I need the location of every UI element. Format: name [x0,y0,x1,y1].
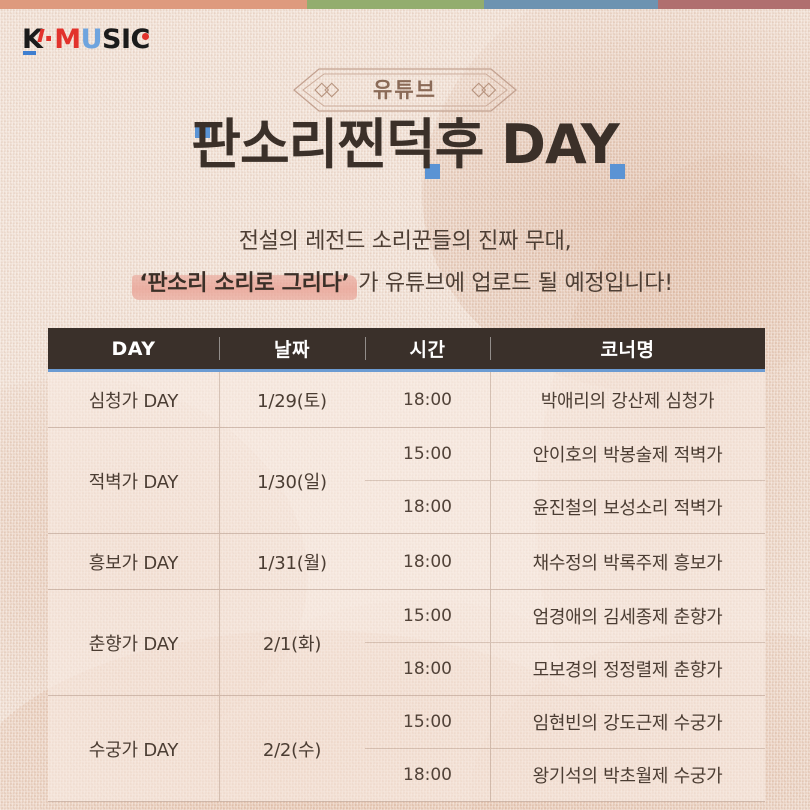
cell-time: 18:00 [365,643,490,695]
cell-day: 적벽가 DAY [48,428,219,533]
table-body: 심청가 DAY1/29(토)18:00박애리의 강산제 심청가적벽가 DAY1/… [48,372,765,802]
time-slot: 15:00안이호의 박봉술제 적벽가 [365,428,765,480]
top-bar-segment-red [658,0,810,9]
table-row: 흥보가 DAY1/31(월)18:00채수정의 박록주제 흥보가 [48,534,765,590]
time-slot: 18:00왕기석의 박초월제 수궁가 [365,748,765,801]
cell-time: 18:00 [365,534,490,589]
subtitle-block: 전설의 레전드 소리꾼들의 진짜 무대, ‘판소리 소리로 그리다’ 가 유튜브… [0,224,810,301]
table-header-time: 시간 [365,328,490,369]
cell-day: 수궁가 DAY [48,696,219,801]
badge-label: 유튜브 [373,80,437,101]
cell-date: 1/30(일) [219,428,365,533]
subtitle-line-2-rest: 가 유튜브에 업로드 될 예정입니다! [352,271,673,296]
table-row: 수궁가 DAY2/2(수)15:00임현빈의 강도근제 수궁가18:00왕기석의… [48,696,765,802]
logo-dot-icon: · [42,26,54,53]
youtube-badge: 유튜브 [291,66,519,114]
schedule-table: DAY 날짜 시간 코너명 심청가 DAY1/29(토)18:00박애리의 강산… [48,328,765,802]
table-row: 심청가 DAY1/29(토)18:00박애리의 강산제 심청가 [48,372,765,428]
logo-letter-m: M [54,26,80,53]
top-color-bar [0,0,810,9]
cell-time: 15:00 [365,696,490,748]
subtitle-line-1: 전설의 레전드 소리꾼들의 진짜 무대, [0,224,810,260]
logo-letter-k: K [22,26,42,53]
cell-corner: 모보경의 정정렬제 춘향가 [490,643,765,695]
cell-corner: 임현빈의 강도근제 수궁가 [490,696,765,748]
cell-date: 1/29(토) [219,372,365,427]
cell-corner: 윤진철의 보성소리 적벽가 [490,481,765,533]
title-text: 판소리찐덕후 DAY [191,113,618,176]
cell-slot-group: 15:00엄경애의 김세종제 춘향가18:00모보경의 정정렬제 춘향가 [365,590,765,695]
cell-date: 2/1(화) [219,590,365,695]
cell-day: 흥보가 DAY [48,534,219,589]
cell-slot-group: 18:00채수정의 박록주제 흥보가 [365,534,765,589]
time-slot: 18:00박애리의 강산제 심청가 [365,372,765,427]
time-slot: 15:00엄경애의 김세종제 춘향가 [365,590,765,642]
cell-date: 1/31(월) [219,534,365,589]
logo-letter-c: C [131,26,150,53]
logo-letter-i: I [121,26,131,53]
cell-corner: 안이호의 박봉술제 적벽가 [490,428,765,480]
cell-day: 춘향가 DAY [48,590,219,695]
cell-time: 18:00 [365,372,490,427]
top-bar-segment-blue [484,0,658,9]
table-row: 적벽가 DAY1/30(일)15:00안이호의 박봉술제 적벽가18:00윤진철… [48,428,765,534]
time-slot: 18:00채수정의 박록주제 흥보가 [365,534,765,589]
page-title: 판소리찐덕후 DAY [0,118,810,172]
table-header-date: 날짜 [219,328,365,369]
cell-corner: 엄경애의 김세종제 춘향가 [490,590,765,642]
poster-canvas: K · M U S I C 유튜브 판소리찐덕후 DA [0,0,810,810]
cell-corner: 박애리의 강산제 심청가 [490,372,765,427]
table-header-corner: 코너명 [490,328,765,369]
cell-slot-group: 15:00안이호의 박봉술제 적벽가18:00윤진철의 보성소리 적벽가 [365,428,765,533]
cell-corner: 채수정의 박록주제 흥보가 [490,534,765,589]
cell-day: 심청가 DAY [48,372,219,427]
cell-time: 18:00 [365,749,490,801]
cell-date: 2/2(수) [219,696,365,801]
logo-letter-s: S [102,26,121,53]
table-header-day: DAY [48,328,219,369]
table-header-row: DAY 날짜 시간 코너명 [48,328,765,372]
subtitle-line-2: ‘판소리 소리로 그리다’ 가 유튜브에 업로드 될 예정입니다! [0,266,810,302]
cell-time: 15:00 [365,428,490,480]
kmusic-logo: K · M U S I C [22,26,150,53]
cell-corner: 왕기석의 박초월제 수궁가 [490,749,765,801]
logo-letter-u: U [81,26,102,53]
subtitle-highlight: ‘판소리 소리로 그리다’ [137,271,351,296]
time-slot: 18:00모보경의 정정렬제 춘향가 [365,642,765,695]
top-bar-segment-green [307,0,483,9]
time-slot: 18:00윤진철의 보성소리 적벽가 [365,480,765,533]
cell-time: 15:00 [365,590,490,642]
table-row: 춘향가 DAY2/1(화)15:00엄경애의 김세종제 춘향가18:00모보경의… [48,590,765,696]
cell-time: 18:00 [365,481,490,533]
time-slot: 15:00임현빈의 강도근제 수궁가 [365,696,765,748]
top-bar-segment-salmon [0,0,307,9]
badge-container: 유튜브 [0,66,810,114]
cell-slot-group: 18:00박애리의 강산제 심청가 [365,372,765,427]
cell-slot-group: 15:00임현빈의 강도근제 수궁가18:00왕기석의 박초월제 수궁가 [365,696,765,801]
